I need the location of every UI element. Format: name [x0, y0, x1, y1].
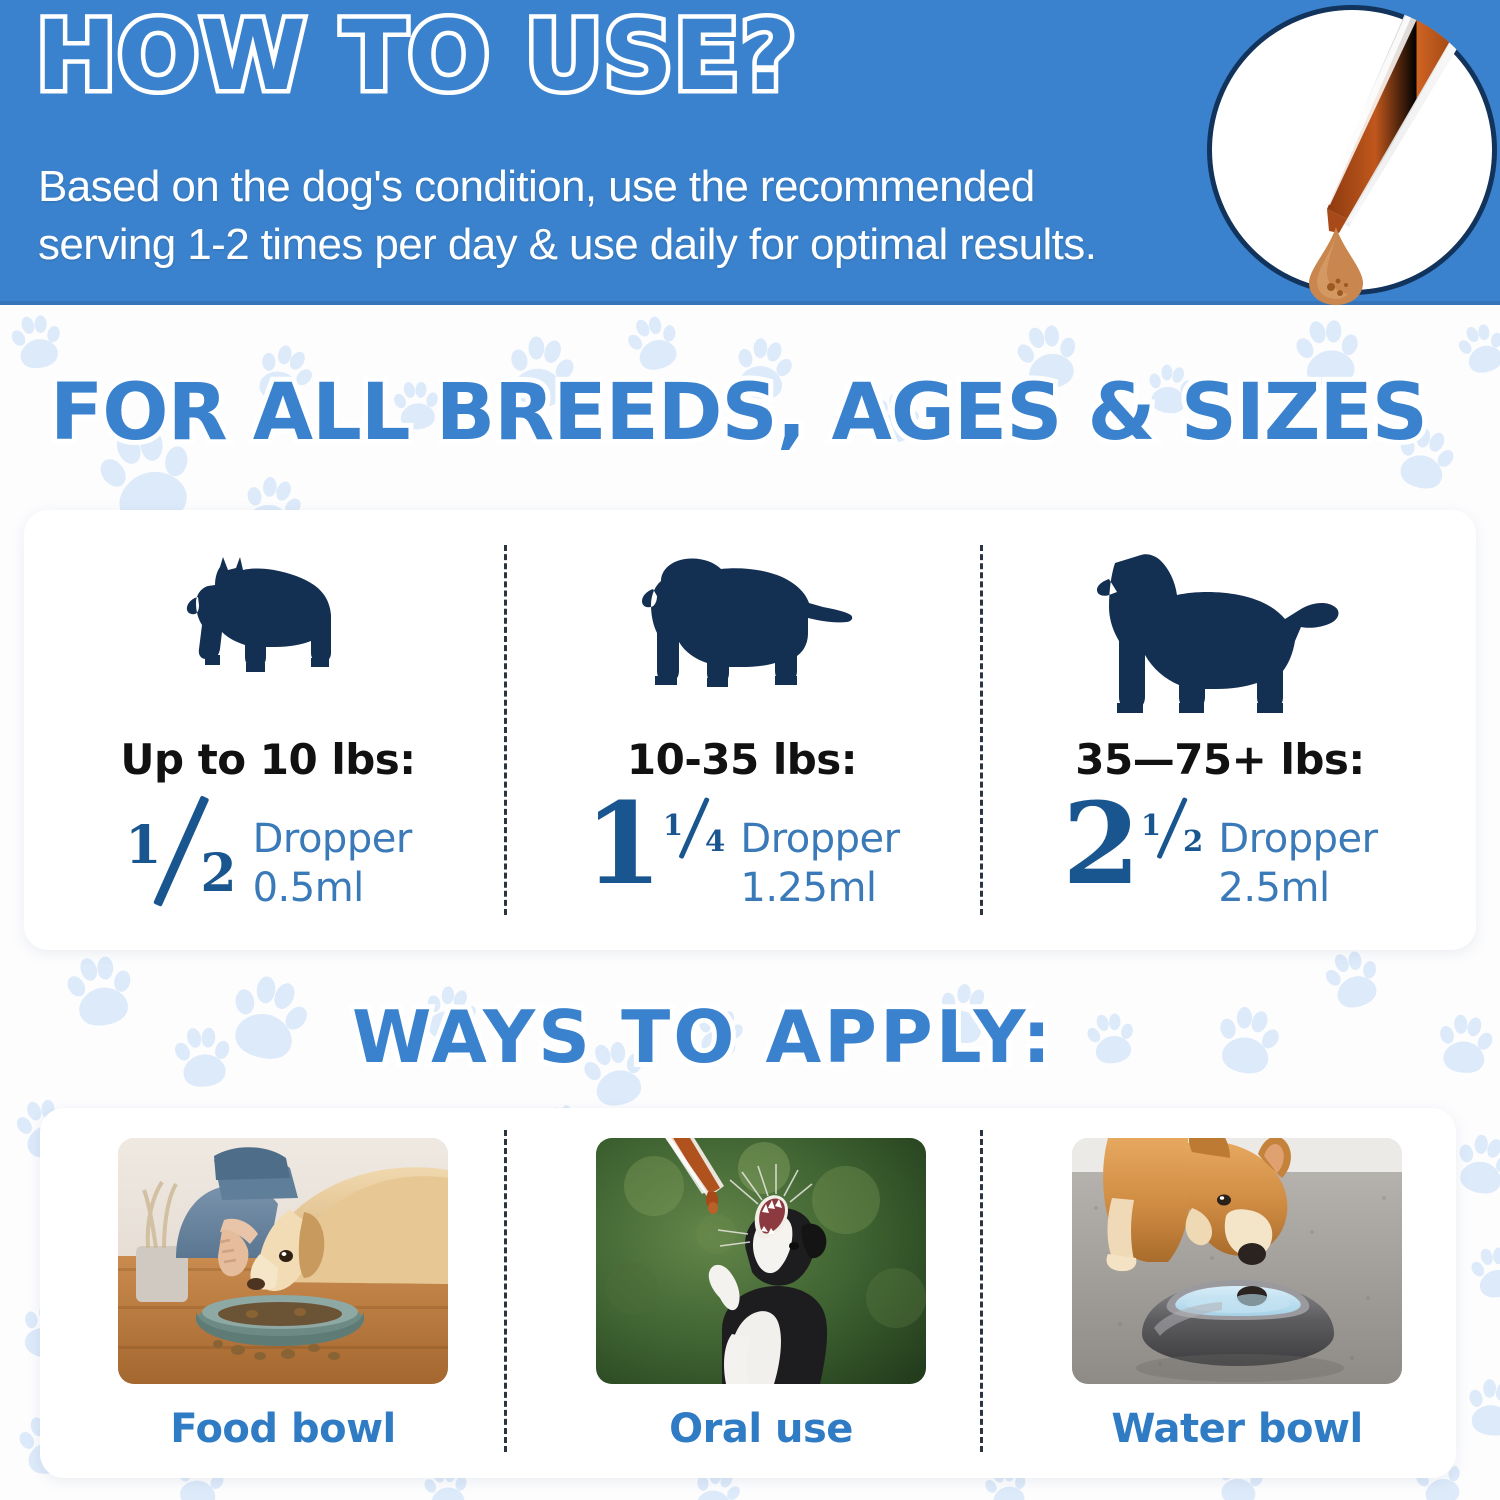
dropper-with-drop-icon: [1207, 5, 1497, 295]
paw-print-icon: [1433, 1010, 1497, 1078]
dosage-column-medium-dog: 10-35 lbs: 1 14 Dropper 1.25ml: [512, 545, 972, 925]
page-title: HOW TO USE?: [36, 8, 797, 104]
paw-print-icon: [1318, 943, 1388, 1016]
fraction-denominator-small: 2: [200, 843, 236, 904]
dosage-divider-2: [980, 545, 983, 915]
apply-method-water-bowl: Water bowl: [1014, 1138, 1460, 1452]
paw-print-icon: [1462, 1374, 1500, 1441]
breeds-section-heading: FOR ALL BREEDS, AGES & SIZES: [50, 368, 1427, 458]
fraction-bar-large: [1161, 801, 1185, 858]
apply-label-oral-use: Oral use: [538, 1406, 984, 1452]
fraction-denominator-large: 2: [1183, 824, 1203, 858]
weight-label-large: 35—75+ lbs:: [990, 735, 1450, 784]
border-collie-receiving-dropper-drop-photo: [596, 1138, 926, 1384]
fraction-bar-small: [160, 802, 202, 904]
paw-print-icon: [1210, 1000, 1287, 1081]
dosage-amount-small: 12: [124, 793, 238, 904]
volume-label-small: 0.5ml: [253, 864, 412, 913]
volume-label-medium: 1.25ml: [740, 864, 899, 913]
dosage-whole-medium: 1: [584, 793, 662, 896]
liquid-drop-icon: [1305, 225, 1367, 307]
dosage-amount-row-medium: 1 14 Dropper 1.25ml: [512, 793, 972, 913]
dosage-amount-large: 2 12: [1062, 793, 1204, 896]
weight-label-small: Up to 10 lbs:: [38, 735, 498, 784]
paw-print-icon: [1466, 1241, 1500, 1303]
paw-print-icon: [1082, 1007, 1141, 1069]
dosage-text-medium: Dropper 1.25ml: [740, 793, 899, 913]
dosage-text-small: Dropper 0.5ml: [253, 793, 412, 913]
dropper-label-medium: Dropper: [740, 815, 899, 864]
header-subtitle-line-1: Based on the dog's condition, use the re…: [38, 162, 1035, 211]
dosage-amount-row-large: 2 12 Dropper 2.5ml: [990, 793, 1450, 913]
apply-method-food-bowl: Food bowl: [60, 1138, 506, 1452]
dosage-amount-row-small: 12 Dropper 0.5ml: [38, 793, 498, 913]
weight-label-medium: 10-35 lbs:: [512, 735, 972, 784]
apply-method-oral-use: Oral use: [538, 1138, 984, 1452]
golden-retriever-eating-from-teal-bowl-photo: [118, 1138, 448, 1384]
dosage-column-small-dog: Up to 10 lbs: 12 Dropper 0.5ml: [38, 545, 498, 925]
dosage-fraction-medium: 14: [662, 799, 726, 858]
apply-label-water-bowl: Water bowl: [1014, 1406, 1460, 1452]
dropper-label-large: Dropper: [1218, 815, 1377, 864]
paw-print-icon: [219, 966, 318, 1070]
shiba-inu-drinking-from-water-bowl-photo: [1072, 1138, 1402, 1384]
header-subtitle-line-2: serving 1-2 times per day & use daily fo…: [38, 216, 1158, 274]
fraction-denominator-medium: 4: [705, 824, 725, 858]
apply-section-heading: WAYS TO APPLY:: [352, 995, 1054, 1079]
dosage-divider-1: [504, 545, 507, 915]
large-dog-silhouette-icon: [990, 545, 1450, 717]
apply-label-food-bowl: Food bowl: [60, 1406, 506, 1452]
paw-print-icon: [1452, 317, 1500, 380]
infographic-page: HOW TO USE? Based on the dog's condition…: [0, 0, 1500, 1500]
dosage-fraction-large: 12: [1140, 799, 1204, 858]
dosage-fraction-small: 12: [124, 797, 238, 904]
dosage-amount-medium: 1 14: [584, 793, 726, 896]
fraction-numerator-medium: 1: [663, 808, 683, 842]
dropper-label-small: Dropper: [253, 815, 412, 864]
small-dog-silhouette-icon: [38, 545, 498, 700]
fraction-numerator-large: 1: [1141, 808, 1161, 842]
fraction-numerator-small: 1: [125, 815, 161, 876]
dosage-whole-large: 2: [1062, 793, 1140, 896]
volume-label-large: 2.5ml: [1218, 864, 1377, 913]
paw-print-icon: [6, 309, 68, 374]
header-subtitle: Based on the dog's condition, use the re…: [38, 158, 1158, 274]
fraction-bar-medium: [683, 801, 707, 858]
dosage-column-large-dog: 35—75+ lbs: 2 12 Dropper 2.5ml: [990, 545, 1450, 925]
paw-print-icon: [60, 948, 141, 1034]
medium-dog-silhouette-icon: [512, 545, 972, 697]
dosage-text-large: Dropper 2.5ml: [1218, 793, 1377, 913]
paw-print-icon: [170, 1022, 236, 1092]
